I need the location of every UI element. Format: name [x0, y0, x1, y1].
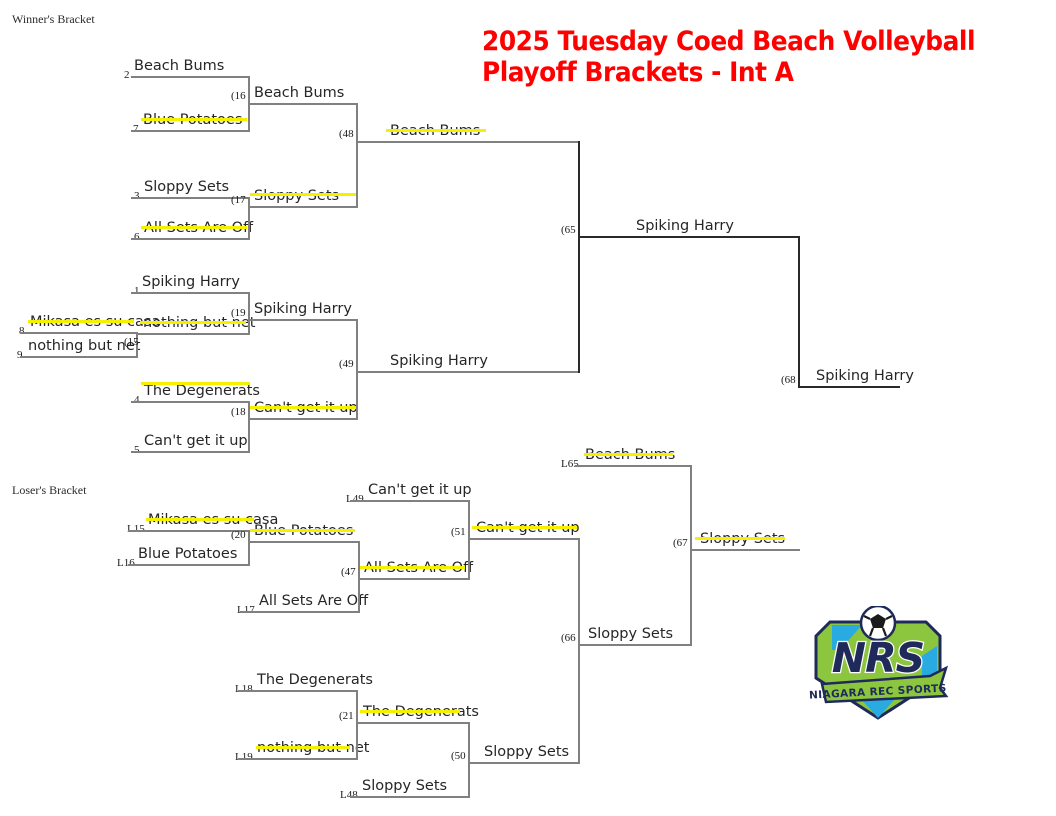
lb-slot-m51-winner[interactable]: Can't get it up	[476, 518, 580, 538]
team-name: Can't get it up	[476, 520, 580, 536]
bracket-line	[131, 401, 250, 403]
bracket-line	[350, 500, 470, 502]
match-number-48: (48	[339, 128, 354, 140]
lb-slot-m47-winner[interactable]: All Sets Are Off	[364, 558, 470, 578]
match-number-21: (21	[339, 710, 354, 722]
lb-slot-L16[interactable]: Blue Potatoes L16	[138, 544, 250, 564]
feed-label: L15	[127, 523, 145, 535]
bracket-connector	[248, 197, 250, 240]
team-name: Beach Bums	[254, 85, 344, 101]
team-name: Blue Potatoes	[143, 112, 242, 128]
team-name: Spiking Harry	[142, 274, 240, 290]
wb-slot-m16-winner[interactable]: Beach Bums	[254, 83, 358, 103]
bracket-line	[358, 722, 470, 724]
bracket-line	[20, 332, 138, 334]
wb-slot-seed9[interactable]: nothing but net 9	[28, 336, 138, 356]
match-number-68: (68	[781, 374, 796, 386]
winners-bracket-label: Winner's Bracket	[12, 12, 95, 27]
wb-slot-seed5[interactable]: Can't get it up 5	[144, 431, 250, 451]
team-name: Beach Bums	[585, 447, 675, 463]
team-name: All Sets Are Off	[259, 593, 368, 609]
lb-slot-m50-winner[interactable]: Sloppy Sets	[484, 742, 580, 762]
bracket-line	[360, 578, 470, 580]
wb-slot-m18-winner[interactable]: Can't get it up	[254, 398, 358, 418]
team-name: Mikasa es su casa	[30, 314, 160, 330]
match-number-16: (16	[231, 90, 246, 102]
bracket-line	[470, 538, 580, 540]
bracket-line	[692, 549, 800, 551]
bracket-line	[580, 644, 692, 646]
team-name: Spiking Harry	[816, 368, 914, 384]
team-name: nothing but net	[257, 740, 369, 756]
bracket-line	[128, 564, 250, 566]
match-number-47: (47	[341, 566, 356, 578]
seed-number: 2	[124, 69, 130, 81]
seed-number: 8	[19, 325, 25, 337]
feed-label: L18	[235, 683, 253, 695]
feed-label: L65	[561, 458, 579, 470]
team-name: The Degenerats	[144, 383, 260, 399]
wb-slot-seed4[interactable]: The Degenerats 4	[144, 381, 250, 401]
wb-slot-m19-winner[interactable]: Spiking Harry	[254, 299, 358, 319]
bracket-connector	[356, 690, 358, 760]
bracket-line	[580, 236, 800, 238]
team-name: Sloppy Sets	[144, 179, 229, 195]
team-name: Blue Potatoes	[138, 546, 237, 562]
wb-slot-seed8[interactable]: Mikasa es su casa 8	[30, 312, 138, 332]
bracket-connector	[798, 236, 800, 388]
team-name: Can't get it up	[254, 400, 358, 416]
team-name: Sloppy Sets	[484, 744, 569, 760]
bracket-line	[350, 796, 470, 798]
team-name: Sloppy Sets	[588, 626, 673, 642]
wb-slot-seed2[interactable]: Beach Bums 2	[134, 56, 250, 76]
lb-slot-m21-winner[interactable]: The Degenerats	[363, 702, 470, 722]
match-number-50: (50	[451, 750, 466, 762]
feed-label: L48	[340, 789, 358, 801]
bracket-line	[238, 690, 358, 692]
bracket-connector	[248, 401, 250, 453]
seed-number: 4	[134, 394, 140, 406]
match-number-19: (19	[231, 307, 246, 319]
bracket-line	[358, 141, 580, 143]
bracket-line	[131, 130, 250, 132]
seed-number: 7	[133, 123, 139, 135]
bracket-connector	[690, 465, 692, 646]
lb-slot-L18[interactable]: The Degenerats L18	[257, 670, 358, 690]
team-name: Sloppy Sets	[362, 778, 447, 794]
bracket-line	[131, 292, 250, 294]
team-name: Spiking Harry	[390, 353, 488, 369]
bracket-connector	[356, 319, 358, 420]
team-name: Can't get it up	[368, 482, 472, 498]
bracket-connector	[578, 141, 580, 373]
bracket-line	[238, 758, 358, 760]
lb-slot-L49[interactable]: Can't get it up L49	[368, 480, 470, 500]
match-number-20: (20	[231, 529, 246, 541]
team-name: The Degenerats	[257, 672, 373, 688]
bracket-line	[800, 386, 900, 388]
losers-bracket-label: Loser's Bracket	[12, 483, 86, 498]
wb-slot-m17-winner[interactable]: Sloppy Sets	[254, 186, 358, 206]
page-title: 2025 Tuesday Coed Beach Volleyball Playo…	[482, 26, 975, 88]
team-name: Spiking Harry	[254, 301, 352, 317]
bracket-line	[131, 451, 250, 453]
bracket-connector	[358, 541, 360, 613]
team-name: Sloppy Sets	[254, 188, 339, 204]
match-number-51: (51	[451, 526, 466, 538]
bracket-line	[470, 762, 580, 764]
team-name: Blue Potatoes	[254, 523, 353, 539]
wb-slot-seed6[interactable]: All Sets Are Off 6	[144, 218, 250, 238]
bracket-line	[131, 238, 250, 240]
bracket-line	[131, 76, 250, 78]
nrs-logo-svg: NRS NIAGARA REC SPORTS	[800, 606, 956, 722]
lb-slot-m20-winner[interactable]: Blue Potatoes	[254, 521, 360, 541]
bracket-connector	[248, 292, 250, 335]
lb-slot-L48[interactable]: Sloppy Sets L48	[362, 776, 470, 796]
lb-slot-m66-winner[interactable]: Sloppy Sets	[588, 624, 692, 644]
match-number-18: (18	[231, 406, 246, 418]
lb-slot-L15[interactable]: Mikasa es su casa L15	[148, 510, 250, 530]
bracket-connector	[468, 722, 470, 798]
wb-slot-m49-winner[interactable]: Spiking Harry	[390, 351, 570, 371]
bracket-line	[358, 371, 580, 373]
seed-number: 1	[134, 285, 140, 297]
wb-slot-m48-winner[interactable]: Beach Bums	[390, 121, 570, 141]
match-number-49: (49	[339, 358, 354, 370]
seed-number: 3	[134, 190, 140, 202]
wb-slot-seed7[interactable]: Blue Potatoes 7	[143, 110, 250, 130]
team-name: Sloppy Sets	[700, 531, 785, 547]
lb-slot-L19[interactable]: nothing but net L19	[257, 738, 358, 758]
feed-label: L16	[117, 557, 135, 569]
team-name: All Sets Are Off	[364, 560, 473, 576]
bracket-page: Winner's Bracket Loser's Bracket 2025 Tu…	[0, 0, 1056, 816]
wb-slot-m65-winner[interactable]: Spiking Harry	[636, 216, 800, 236]
bracket-line	[20, 356, 138, 358]
seed-number: 9	[17, 349, 23, 361]
seed-number: 6	[134, 231, 140, 243]
lb-slot-m67-winner[interactable]: Sloppy Sets	[700, 529, 800, 549]
lb-slot-L17[interactable]: All Sets Are Off L17	[259, 591, 360, 611]
feed-label: L49	[346, 493, 364, 505]
team-name: Spiking Harry	[636, 218, 734, 234]
bracket-connector	[248, 530, 250, 566]
match-number-15: (15	[124, 336, 139, 348]
bracket-line	[250, 319, 358, 321]
team-name: The Degenerats	[363, 704, 479, 720]
bracket-line	[240, 611, 360, 613]
bracket-line	[250, 206, 358, 208]
champion-slot[interactable]: Spiking Harry	[816, 366, 916, 386]
wb-slot-seed1[interactable]: Spiking Harry 1	[142, 272, 250, 292]
seed-number: 5	[134, 444, 140, 456]
bracket-line	[138, 333, 250, 335]
team-name: Beach Bums	[134, 58, 224, 74]
lb-slot-L65[interactable]: Beach Bums L65	[585, 445, 692, 465]
bracket-connector	[356, 103, 358, 208]
match-number-65: (65	[561, 224, 576, 236]
bracket-line	[575, 465, 692, 467]
logo-initials: NRS	[832, 634, 924, 682]
bracket-line	[250, 541, 360, 543]
team-name: All Sets Are Off	[144, 220, 253, 236]
nrs-logo: NRS NIAGARA REC SPORTS	[800, 606, 956, 722]
match-number-66: (66	[561, 632, 576, 644]
bracket-connector	[578, 538, 580, 764]
bracket-connector	[468, 500, 470, 580]
feed-label: L17	[237, 604, 255, 616]
team-name: Beach Bums	[390, 123, 480, 139]
bracket-line	[250, 418, 358, 420]
bracket-line	[250, 103, 358, 105]
match-number-17: (17	[231, 194, 246, 206]
match-number-67: (67	[673, 537, 688, 549]
feed-label: L19	[235, 751, 253, 763]
team-name: Can't get it up	[144, 433, 248, 449]
